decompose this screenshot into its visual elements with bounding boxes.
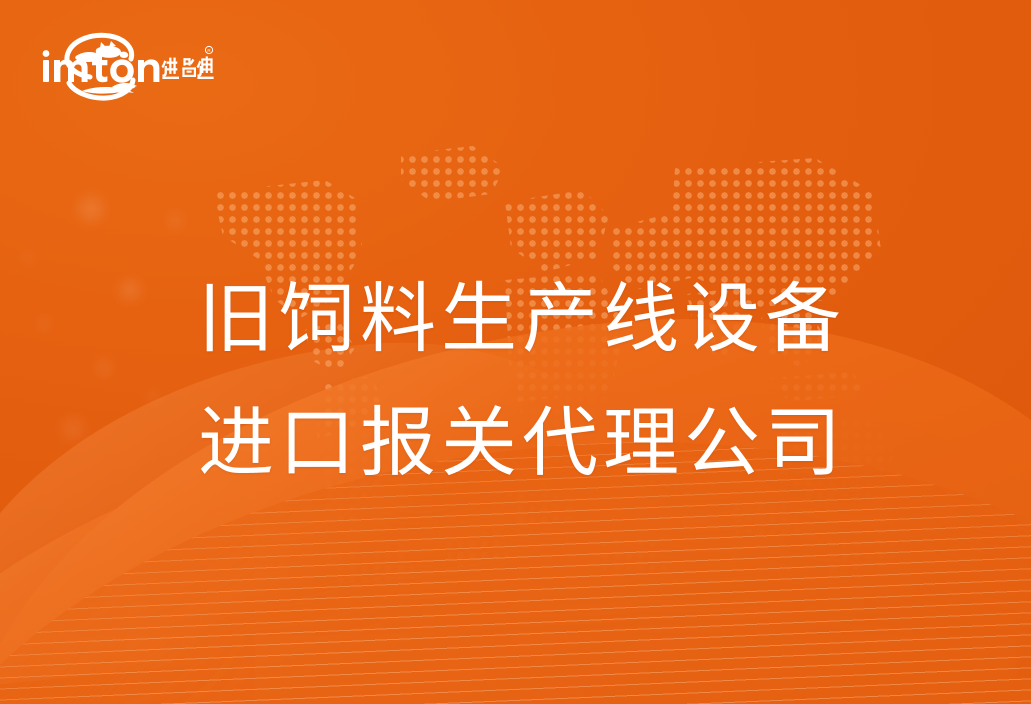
promo-banner: R 旧饲料生产线设备 进口报关代理公司	[0, 0, 1031, 704]
headline-line-1: 旧饲料生产线设备	[198, 258, 898, 382]
headline: 旧饲料生产线设备 进口报关代理公司	[198, 258, 898, 506]
logo-wordmark	[43, 50, 160, 83]
svg-text:R: R	[207, 48, 211, 53]
headline-line-2: 进口报关代理公司	[198, 382, 898, 506]
swoosh-icon	[82, 83, 137, 94]
imton-logo[interactable]: R	[38, 30, 214, 104]
logo-chinese-name	[162, 56, 214, 79]
